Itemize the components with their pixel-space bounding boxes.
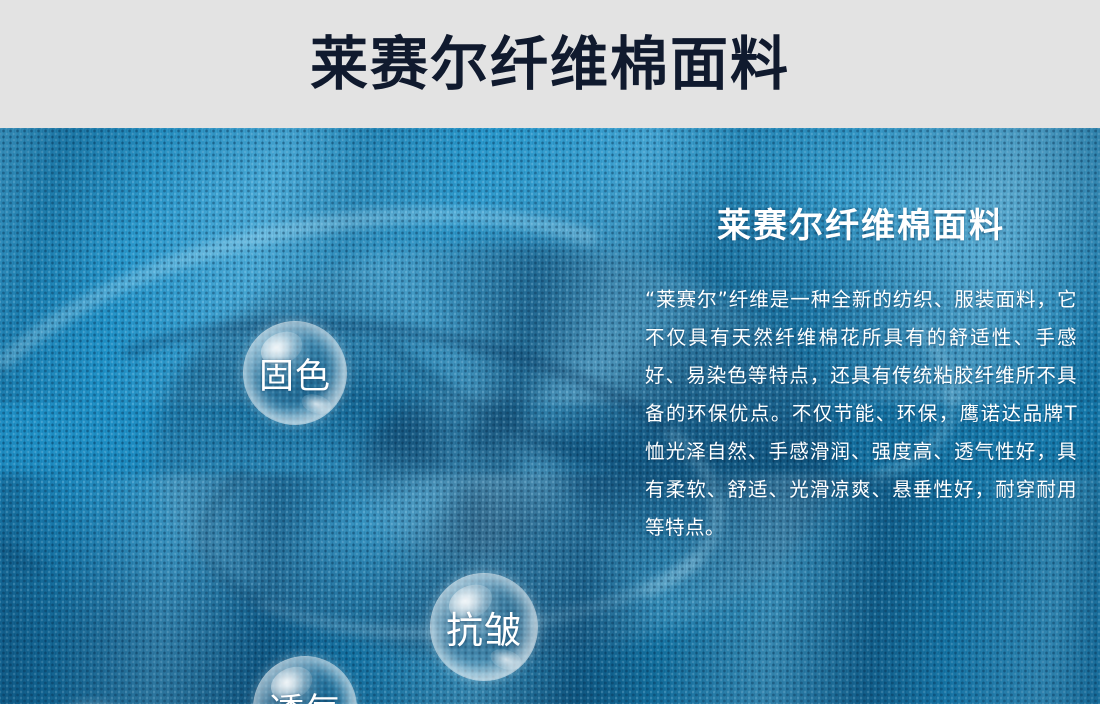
feature-bubble-kang-zhou: 抗皱: [430, 573, 538, 681]
feature-bubble-label: 固色: [259, 348, 331, 399]
description-panel: 莱赛尔纤维棉面料 “莱赛尔”纤维是一种全新的纺织、服装面料，它不仅具有天然纤维棉…: [645, 206, 1077, 547]
fabric-photo: 固色 抗皱 透气 亲肤 莱赛尔纤维棉面料 “莱赛尔”纤维是一种全新的纺织、服装面…: [0, 128, 1100, 704]
description-body: “莱赛尔”纤维是一种全新的纺织、服装面料，它不仅具有天然纤维棉花所具有的舒适性、…: [645, 281, 1077, 547]
description-heading: 莱赛尔纤维棉面料: [645, 206, 1077, 247]
feature-bubble-label: 抗皱: [446, 600, 522, 654]
feature-bubble-label: 透气: [269, 683, 341, 704]
page-title: 莱赛尔纤维棉面料: [310, 35, 790, 93]
product-detail-page: 莱赛尔纤维棉面料 固色 抗皱 透气 亲肤 莱赛尔纤维棉面料: [0, 0, 1100, 704]
feature-bubble-gu-se: 固色: [243, 321, 347, 425]
title-banner: 莱赛尔纤维棉面料: [0, 0, 1100, 128]
